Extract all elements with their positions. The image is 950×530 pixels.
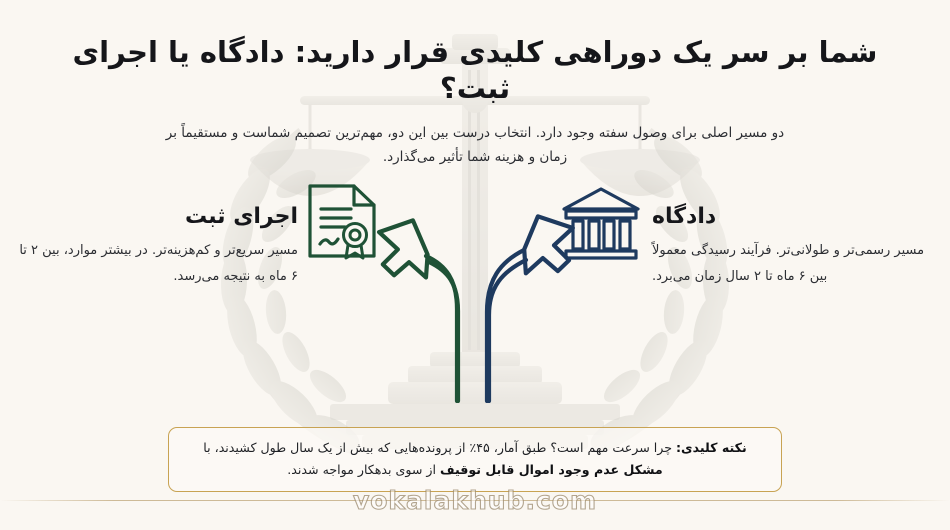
key-note-text: نکته کلیدی: چرا سرعت مهم است؟ طبق آمار، … — [187, 437, 763, 481]
option-registry-body: مسیر سریع‌تر و کم‌هزینه‌تر. در بیشتر موا… — [18, 238, 298, 289]
option-registry: اجرای ثبت مسیر سریع‌تر و کم‌هزینه‌تر. در… — [18, 204, 298, 289]
option-court-heading: دادگاه — [652, 204, 932, 230]
key-note-part2: از سوی بدهکار مواجه شدند. — [287, 462, 440, 477]
header: شما بر سر یک دوراهی کلیدی قرار دارید: دا… — [0, 34, 950, 170]
key-note-part1: چرا سرعت مهم است؟ طبق آمار، ۴۵٪ از پروند… — [203, 440, 676, 455]
courthouse-icon — [558, 185, 644, 261]
watermark-rule — [0, 500, 950, 501]
option-registry-heading: اجرای ثبت — [18, 204, 298, 230]
page-title: شما بر سر یک دوراهی کلیدی قرار دارید: دا… — [65, 34, 885, 107]
option-court: دادگاه مسیر رسمی‌تر و طولانی‌تر. فرآیند … — [652, 204, 932, 289]
key-note-box: نکته کلیدی: چرا سرعت مهم است؟ طبق آمار، … — [168, 427, 782, 492]
page-subtitle: دو مسیر اصلی برای وصول سفته وجود دارد. ا… — [155, 121, 795, 171]
option-court-body: مسیر رسمی‌تر و طولانی‌تر. فرآیند رسیدگی … — [652, 238, 932, 289]
center-graphic — [290, 172, 660, 402]
key-note-emphasis: مشکل عدم وجود اموال قابل توقیف — [440, 462, 663, 477]
key-note-label: نکته کلیدی: — [676, 440, 747, 455]
green-curved-arrow-left — [376, 218, 458, 401]
infographic-page: شما بر سر یک دوراهی کلیدی قرار دارید: دا… — [0, 0, 950, 530]
